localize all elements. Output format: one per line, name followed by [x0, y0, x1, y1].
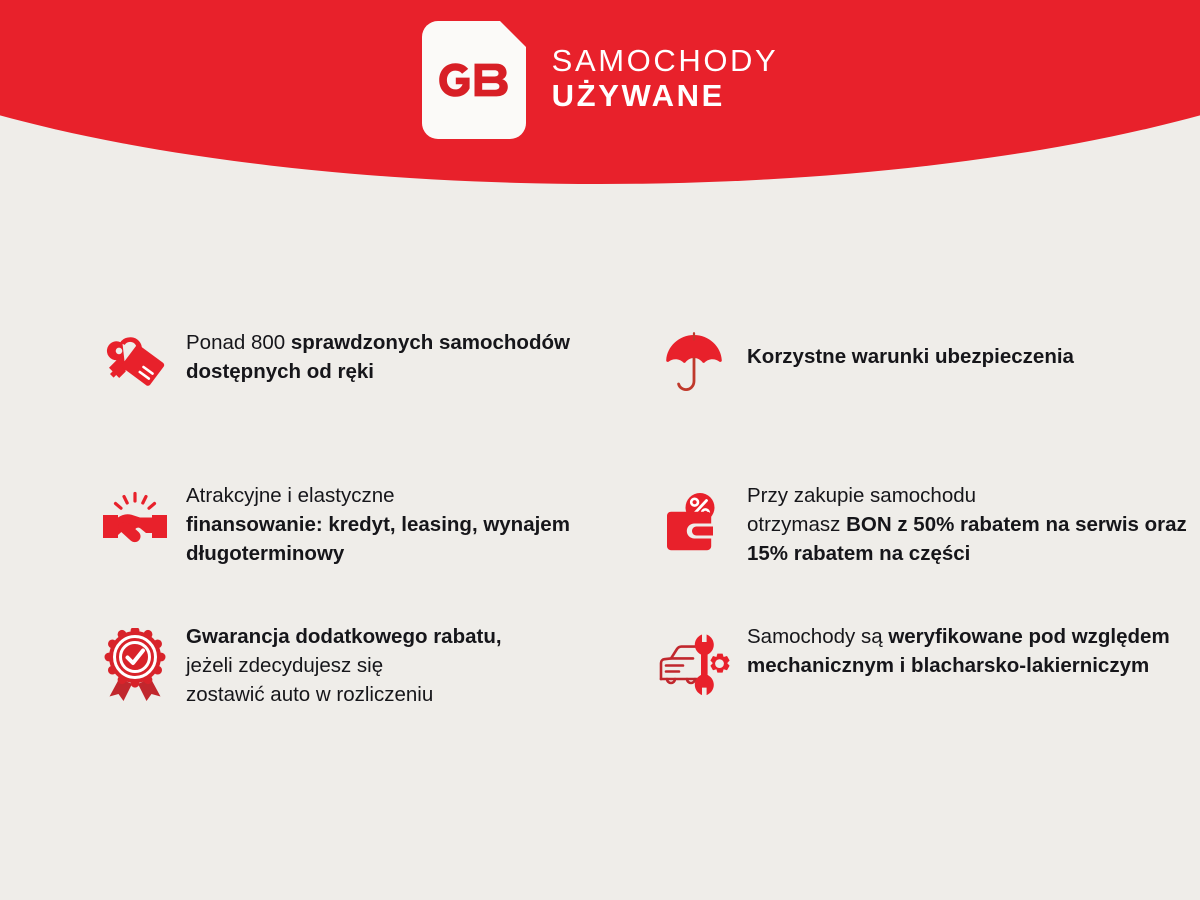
- feature-item-car-key: Ponad 800 sprawdzonych samochodów dostęp…: [96, 318, 641, 463]
- wallet-percent-icon: [655, 485, 733, 563]
- header-banner: SAMOCHODY UŻYWANE: [0, 0, 1200, 200]
- feature-item-inspection: Samochody są weryfikowane pod względem m…: [655, 608, 1200, 753]
- feature-text: Samochody są weryfikowane pod względem m…: [747, 620, 1187, 680]
- feature-item-award: Gwarancja dodatkowego rabatu,jeżeli zdec…: [96, 608, 641, 753]
- award-badge-icon: [96, 626, 174, 704]
- car-key-icon: [96, 326, 174, 404]
- feature-text: Gwarancja dodatkowego rabatu,jeżeli zdec…: [186, 620, 502, 709]
- brand-lockup: SAMOCHODY UŻYWANE: [0, 0, 1200, 160]
- feature-item-handshake: Atrakcyjne i elastycznefinansowanie: kre…: [96, 463, 641, 608]
- brand-line-1: SAMOCHODY: [552, 45, 779, 76]
- handshake-icon: [96, 485, 174, 563]
- umbrella-icon: [655, 324, 733, 402]
- feature-item-umbrella: Korzystne warunki ubezpieczenia: [655, 318, 1200, 463]
- features-grid: Ponad 800 sprawdzonych samochodów dostęp…: [0, 318, 1200, 753]
- brand-line-2: UŻYWANE: [552, 80, 779, 111]
- car-wrench-gear-icon: [655, 626, 733, 704]
- gb-monogram-icon: [436, 60, 512, 100]
- feature-text: Ponad 800 sprawdzonych samochodów dostęp…: [186, 326, 626, 386]
- feature-text: Atrakcyjne i elastycznefinansowanie: kre…: [186, 479, 626, 568]
- gb-logo-card[interactable]: [422, 21, 526, 139]
- feature-text: Korzystne warunki ubezpieczenia: [747, 340, 1074, 371]
- feature-text: Przy zakupie samochoduotrzymasz BON z 50…: [747, 479, 1187, 568]
- feature-item-wallet: Przy zakupie samochoduotrzymasz BON z 50…: [655, 463, 1200, 608]
- brand-text: SAMOCHODY UŻYWANE: [552, 45, 779, 115]
